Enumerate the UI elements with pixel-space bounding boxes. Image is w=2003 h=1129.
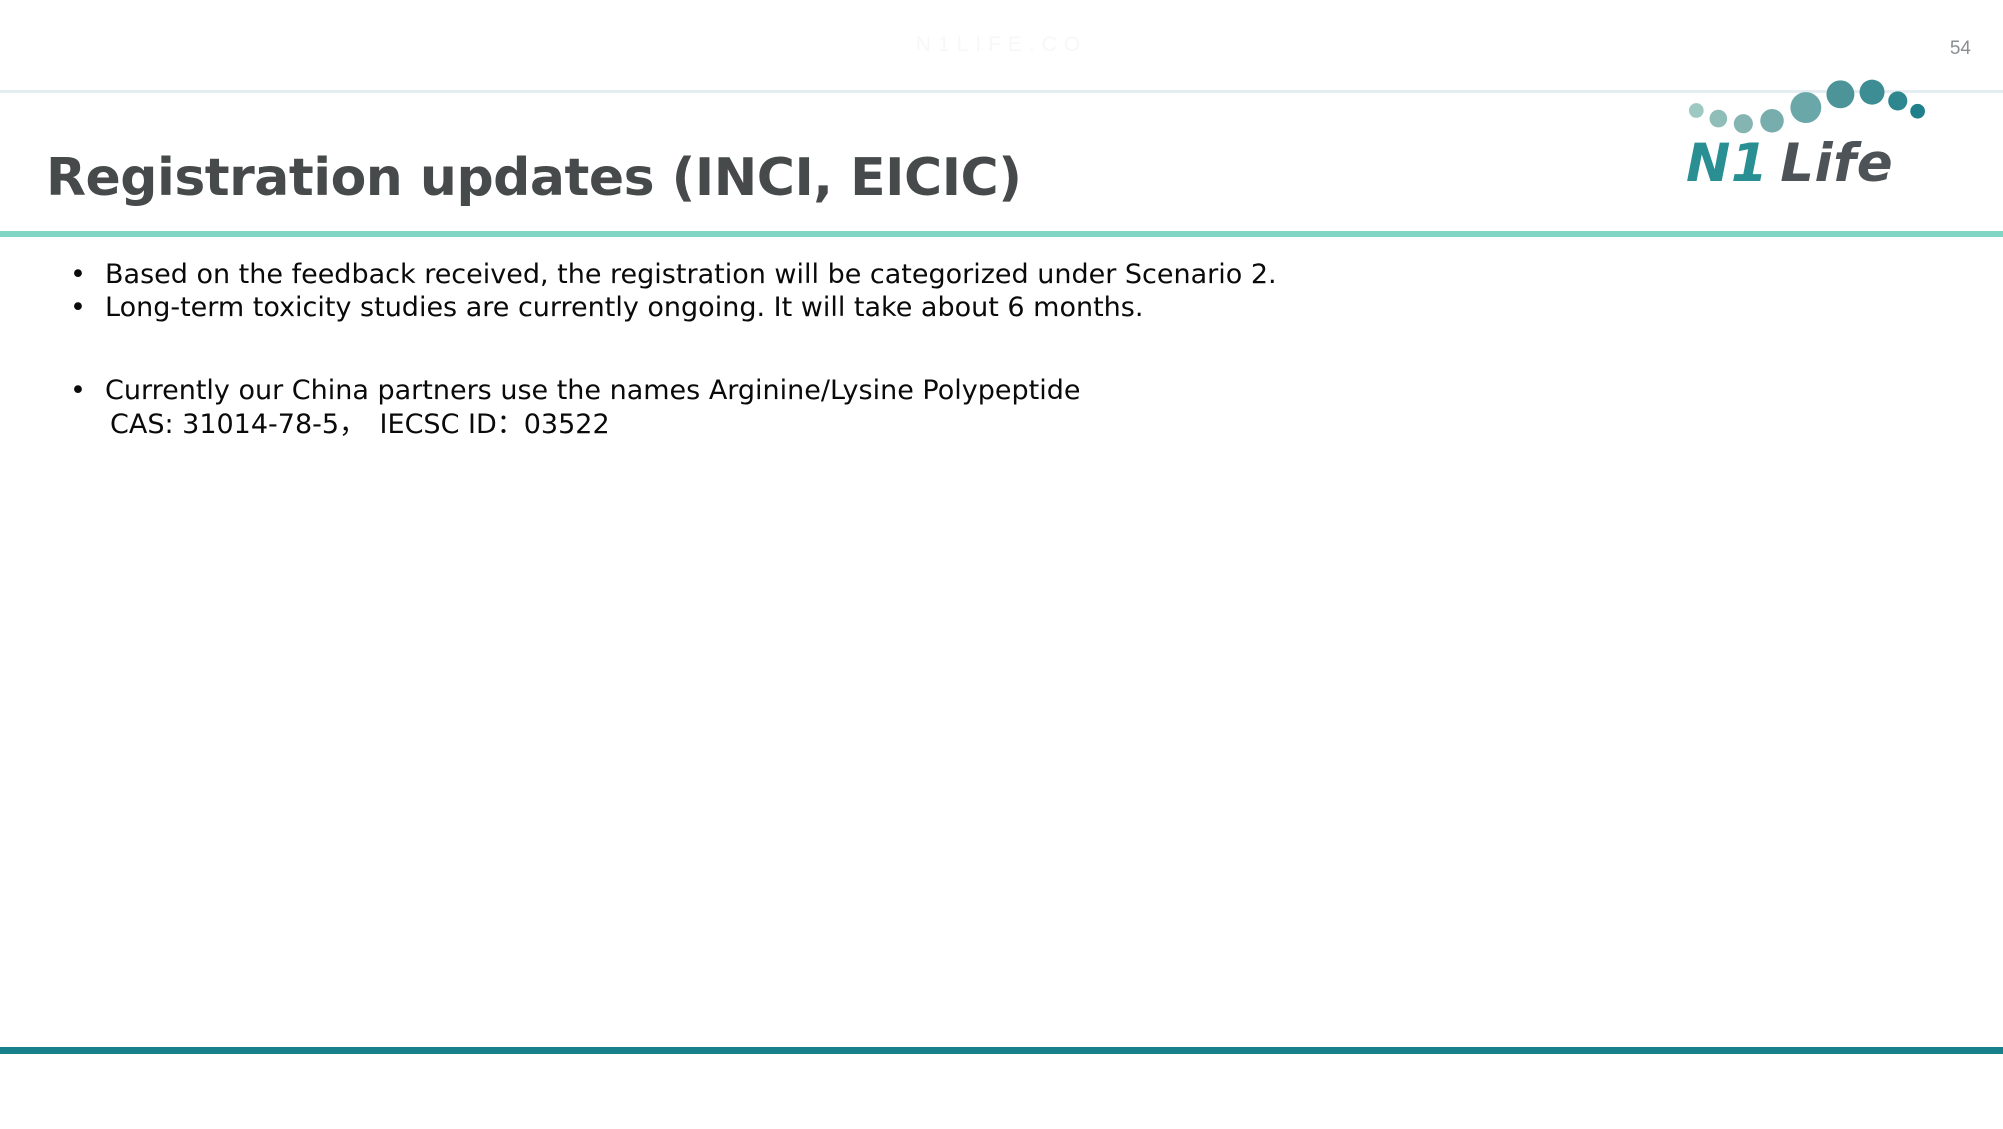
logo-wordmark: N1Life: [1686, 133, 1936, 195]
list-item-text: Based on the feedback received, the regi…: [105, 259, 1277, 290]
logo-wordmark-n1: N1: [1686, 133, 1768, 194]
logo-dot-arc-icon: [1686, 55, 1936, 141]
list-item: • Currently our China partners use the n…: [0, 374, 1500, 407]
watermark-text: N1LIFE.CO: [0, 33, 2003, 57]
logo-wordmark-life: Life: [1780, 133, 1893, 194]
bullet-marker-icon: •: [70, 291, 86, 324]
slide-number: 54: [1950, 38, 1971, 60]
list-item-detail-text: CAS: 31014-78-5， IECSC ID：03522: [0, 407, 1500, 443]
bullet-marker-icon: •: [70, 258, 86, 291]
brand-logo: N1Life: [1686, 55, 1936, 210]
list-spacer: [0, 324, 1500, 374]
page-title: Registration updates (INCI, EICIC): [46, 147, 1021, 209]
list-item: • Long-term toxicity studies are current…: [0, 291, 1500, 324]
slide-body: • Based on the feedback received, the re…: [0, 258, 1500, 443]
footer-teal-divider: [0, 1047, 2003, 1054]
slide-canvas: N1LIFE.CO 54 Registration updates (INCI,…: [0, 0, 2003, 1129]
header-mint-divider: [0, 231, 2003, 237]
list-item-text: Long-term toxicity studies are currently…: [105, 292, 1143, 323]
bullet-marker-icon: •: [70, 374, 86, 407]
list-item: • Based on the feedback received, the re…: [0, 258, 1500, 291]
list-item-text: Currently our China partners use the nam…: [105, 375, 1080, 406]
